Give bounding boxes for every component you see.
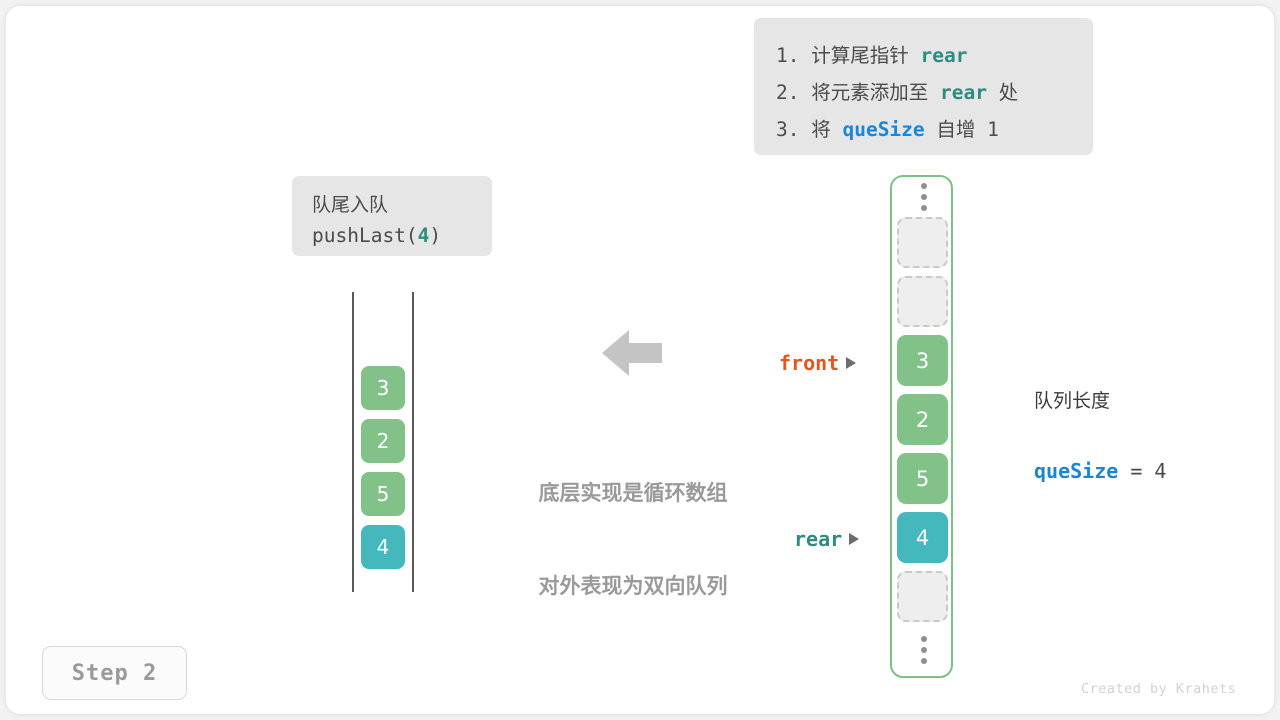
implementation-note: 底层实现是循环数组 对外表现为双向队列 [508,416,758,664]
left-block-arrow-icon [602,328,662,378]
instruction-2-suffix: 处 [987,81,1018,104]
deque-cell: 4 [361,525,405,569]
deque-cell: 3 [361,366,405,410]
instruction-line-3: 3. 将 queSize 自增 1 [776,111,1071,148]
deque-cell: 5 [361,472,405,516]
queue-size-value: 4 [1154,459,1166,483]
queue-size-expression: queSize = 4 [1034,454,1166,488]
credit-text: Created by Krahets [1081,681,1236,697]
implementation-note-line-2: 对外表现为双向队列 [508,571,758,602]
array-slot-empty [897,276,948,327]
instruction-panel: 1. 计算尾指针 rear 2. 将元素添加至 rear 处 3. 将 queS… [754,18,1093,155]
instruction-3-prefix: 3. 将 [776,118,842,141]
deque-cell: 2 [361,419,405,463]
vertical-ellipsis-icon [892,630,955,670]
operation-label-panel: 队尾入队 pushLast(4) [292,176,492,256]
instruction-3-suffix: 自增 1 [925,118,999,141]
instruction-1-prefix: 1. 计算尾指针 [776,44,920,67]
rear-pointer: rear [794,527,859,551]
operation-call: pushLast(4) [312,220,472,252]
operation-call-prefix: pushLast( [312,224,418,247]
array-slot-empty [897,571,948,622]
front-pointer-label: front [779,351,839,375]
rear-pointer-arrow-icon [849,533,859,545]
figure-canvas: 1. 计算尾指针 rear 2. 将元素添加至 rear 处 3. 将 queS… [0,0,1280,720]
step-badge: Step 2 [42,646,187,700]
figure-card: 1. 计算尾指针 rear 2. 将元素添加至 rear 处 3. 将 queS… [6,6,1274,714]
instruction-2-code: rear [940,81,987,104]
queue-size-caption: 队列长度 [1034,386,1166,416]
deque-view: 3 2 5 4 [352,292,414,592]
array-slot-filled: 3 [897,335,948,386]
front-pointer-arrow-icon [846,357,856,369]
instruction-1-code: rear [920,44,967,67]
operation-title: 队尾入队 [312,190,472,220]
array-slot-filled: 4 [897,512,948,563]
queue-size-var: queSize [1034,459,1118,483]
queue-size-equals: = [1118,459,1154,483]
array-slot-filled: 5 [897,453,948,504]
deque-rail-left [352,292,354,592]
array-slot-empty [897,217,948,268]
operation-call-suffix: ) [429,224,441,247]
rear-pointer-label: rear [794,527,842,551]
instruction-line-1: 1. 计算尾指针 rear [776,37,1071,74]
instruction-line-2: 2. 将元素添加至 rear 处 [776,74,1071,111]
front-pointer: front [779,351,856,375]
vertical-ellipsis-icon [892,177,955,217]
implementation-note-line-1: 底层实现是循环数组 [508,478,758,509]
instruction-2-prefix: 2. 将元素添加至 [776,81,940,104]
deque-rail-right [412,292,414,592]
circular-array-container: 3 2 5 4 [890,175,953,678]
queue-size-readout: 队列长度 queSize = 4 [1034,348,1166,526]
operation-call-arg: 4 [418,224,430,247]
instruction-3-code: queSize [842,118,924,141]
array-slot-filled: 2 [897,394,948,445]
